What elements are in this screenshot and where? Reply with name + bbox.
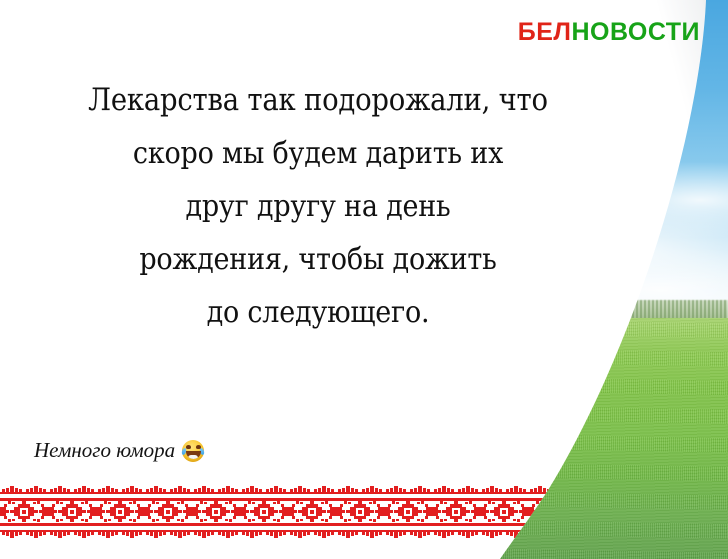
joke-line-5: до следующего. xyxy=(8,286,628,339)
joke-line-3: друг другу на день xyxy=(8,180,628,233)
joke-line-2: скоро мы будем дарить их xyxy=(8,127,628,180)
caption-text: Немного юмора xyxy=(34,438,175,463)
caption: Немного юмора xyxy=(34,438,204,463)
joke-text: Лекарства так подорожали, что скоро мы б… xyxy=(8,74,628,339)
eye-right xyxy=(196,445,201,449)
logo-text-green: НОВОСТИ xyxy=(571,18,700,46)
joke-line-1: Лекарства так подорожали, что xyxy=(8,74,628,127)
meme-image: БЕЛНОВОСТИ Лекарства так подорожали, что… xyxy=(0,0,728,559)
joke-line-4: рождения, чтобы дожить xyxy=(8,233,628,286)
eye-left xyxy=(186,445,191,449)
face-with-tears-of-joy-icon xyxy=(182,440,204,462)
mouth xyxy=(186,451,201,459)
logo-text-red: БЕЛ xyxy=(518,18,572,46)
site-logo[interactable]: БЕЛНОВОСТИ xyxy=(518,18,700,47)
